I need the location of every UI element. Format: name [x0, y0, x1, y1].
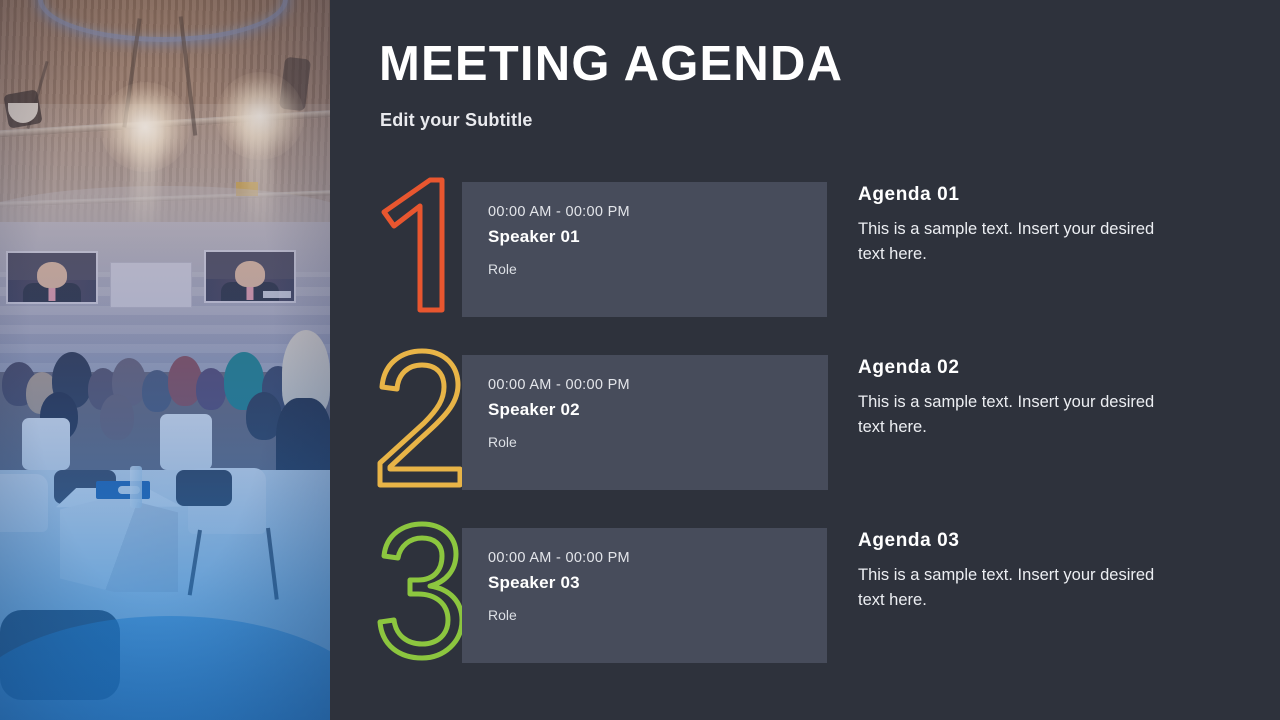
agenda-title: Agenda 02: [858, 357, 1158, 379]
agenda-title: Agenda 01: [858, 184, 1158, 206]
agenda-description: This is a sample text. Insert your desir…: [858, 390, 1158, 440]
speaker-card-content: 00:00 AM - 00:00 PM Speaker 03 Role: [488, 550, 630, 623]
numeral-1-icon: [372, 170, 472, 320]
speaker-role: Role: [488, 607, 630, 623]
session-time: 00:00 AM - 00:00 PM: [488, 550, 630, 566]
numeral-2-icon: [372, 343, 472, 493]
speaker-role: Role: [488, 261, 630, 277]
page-subtitle: Edit your Subtitle: [380, 110, 533, 131]
speaker-card[interactable]: 00:00 AM - 00:00 PM Speaker 02 Role: [462, 355, 828, 490]
photo-vignette: [0, 0, 330, 720]
conference-photo: [0, 0, 330, 720]
page-title: MEETING AGENDA: [379, 40, 843, 89]
agenda-description: This is a sample text. Insert your desir…: [858, 563, 1158, 613]
speaker-card[interactable]: 00:00 AM - 00:00 PM Speaker 03 Role: [462, 528, 827, 663]
speaker-card-content: 00:00 AM - 00:00 PM Speaker 02 Role: [488, 377, 630, 450]
session-time: 00:00 AM - 00:00 PM: [488, 377, 630, 393]
session-time: 00:00 AM - 00:00 PM: [488, 204, 630, 220]
speaker-name: Speaker 02: [488, 400, 630, 420]
slide-meeting-agenda: MEETING AGENDA Edit your Subtitle 00:00 …: [0, 0, 1280, 720]
speaker-card-content: 00:00 AM - 00:00 PM Speaker 01 Role: [488, 204, 630, 277]
agenda-item: Agenda 01 This is a sample text. Insert …: [858, 184, 1158, 267]
speaker-name: Speaker 03: [488, 573, 630, 593]
agenda-title: Agenda 03: [858, 530, 1158, 552]
numeral-3-icon: [372, 516, 472, 666]
speaker-name: Speaker 01: [488, 227, 630, 247]
agenda-description: This is a sample text. Insert your desir…: [858, 217, 1158, 267]
agenda-content-panel: MEETING AGENDA Edit your Subtitle 00:00 …: [330, 0, 1280, 720]
speaker-card[interactable]: 00:00 AM - 00:00 PM Speaker 01 Role: [462, 182, 827, 317]
speaker-role: Role: [488, 434, 630, 450]
agenda-item: Agenda 03 This is a sample text. Insert …: [858, 530, 1158, 613]
agenda-item: Agenda 02 This is a sample text. Insert …: [858, 357, 1158, 440]
